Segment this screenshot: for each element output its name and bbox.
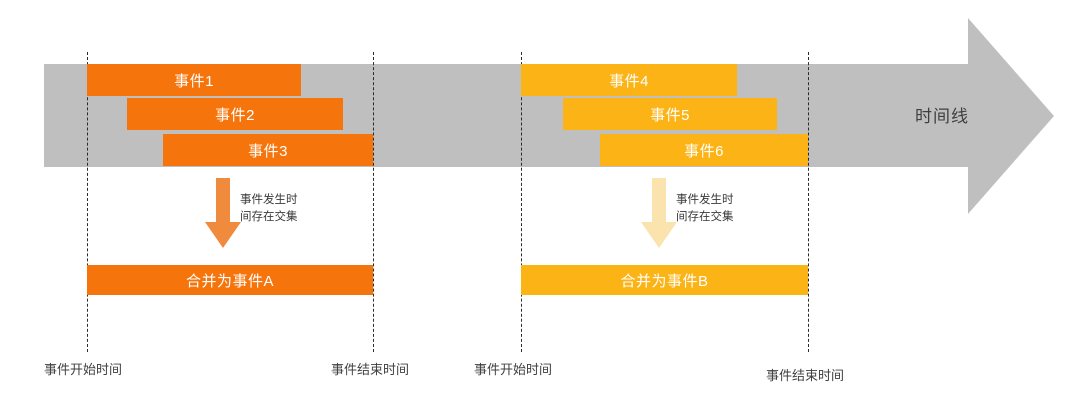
merge-down-arrow-group-b xyxy=(639,178,679,250)
guide-start-group-a xyxy=(87,52,88,352)
caption-end-group-a: 事件结束时间 xyxy=(331,359,409,378)
guide-end-group-b xyxy=(808,52,809,352)
event-bar-label: 事件4 xyxy=(609,70,649,91)
caption-start-group-a: 事件开始时间 xyxy=(44,359,122,378)
merged-event-bar-b[interactable]: 合并为事件B xyxy=(521,265,808,295)
merge-note-group-a: 事件发生时 间存在交集 xyxy=(240,192,298,225)
event-bar-3[interactable]: 事件3 xyxy=(163,134,373,166)
caption-end-group-b: 事件结束时间 xyxy=(766,365,844,384)
merge-note-group-b: 事件发生时 间存在交集 xyxy=(676,192,734,225)
event-bar-label: 事件1 xyxy=(174,70,214,91)
event-bar-label: 事件5 xyxy=(650,104,690,125)
event-bar-6[interactable]: 事件6 xyxy=(600,134,808,166)
merged-event-label: 合并为事件A xyxy=(186,270,274,291)
merged-event-label: 合并为事件B xyxy=(620,270,708,291)
merge-down-arrow-group-a xyxy=(203,178,243,250)
event-bar-label: 事件3 xyxy=(248,140,288,161)
event-bar-label: 事件6 xyxy=(684,140,724,161)
merged-event-bar-a[interactable]: 合并为事件A xyxy=(87,265,373,295)
guide-start-group-b xyxy=(521,52,522,352)
guide-end-group-a xyxy=(373,52,374,352)
diagram-canvas: 时间线 事件1 事件2 事件3 事件发生时 间存在交集 合并为事件A 事件开始时… xyxy=(0,0,1080,414)
caption-start-group-b: 事件开始时间 xyxy=(474,359,552,378)
event-bar-5[interactable]: 事件5 xyxy=(563,98,777,130)
event-bar-label: 事件2 xyxy=(215,104,255,125)
event-bar-1[interactable]: 事件1 xyxy=(87,64,301,96)
timeline-label: 时间线 xyxy=(915,102,969,127)
event-bar-4[interactable]: 事件4 xyxy=(521,64,737,96)
event-bar-2[interactable]: 事件2 xyxy=(127,98,343,130)
